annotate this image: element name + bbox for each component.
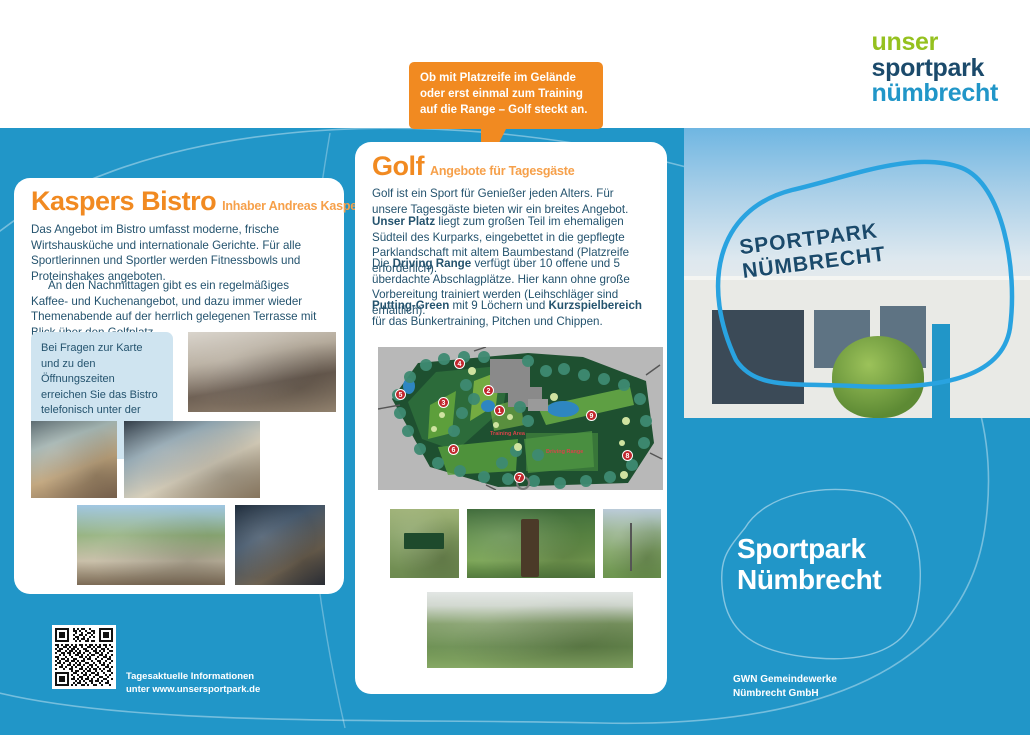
map-marker-1[interactable]: 1 — [494, 405, 505, 416]
golf-platz-label: Unser Platz — [372, 215, 435, 228]
map-marker-9[interactable]: 9 — [586, 410, 597, 421]
golf-kurzspiel-label: Kurzspielbereich — [549, 299, 642, 312]
qr-caption-line-2: unter www.unsersportpark.de — [126, 684, 260, 697]
sportpark-footer: GWN Gemeindewerke Nümbrecht GmbH — [733, 673, 837, 701]
bistro-interior-tables-photo — [188, 332, 336, 412]
golf-green-with-flag-photo — [603, 509, 661, 578]
golf-old-tree-photo — [467, 509, 595, 578]
golf-course-panorama-photo — [427, 592, 633, 668]
bistro-bar-area-photo — [124, 421, 260, 498]
callout-speech-bubble: Ob mit Platzreife im Gelände oder erst e… — [409, 62, 603, 129]
golf-range-prefix: Die — [372, 257, 393, 270]
golf-putting-paragraph: Putting-Green mit 9 Löchern und Kurzspie… — [372, 298, 650, 329]
logo-line-unser: unser — [872, 30, 998, 56]
map-marker-2[interactable]: 2 — [483, 385, 494, 396]
brand-logo: unser sportpark nümbrecht — [872, 30, 998, 107]
golf-intro-text: Golf ist ein Sport für Genießer jeden Al… — [372, 186, 650, 217]
footer-company-line-1: GWN Gemeindewerke — [733, 673, 837, 687]
bistro-bar-stools-photo — [235, 505, 325, 585]
qr-caption: Tagesaktuelle Informationen unter www.un… — [126, 671, 260, 697]
map-label-driving-range: Driving Range — [546, 449, 583, 455]
logo-line-nuembrecht: nümbrecht — [872, 81, 998, 107]
golf-putting-mid: mit 9 Löchern und — [449, 299, 548, 312]
logo-line-sportpark: sportpark — [872, 56, 998, 82]
golf-putting-label: Putting-Green — [372, 299, 449, 312]
sportpark-title-line-2: Nümbrecht — [737, 565, 881, 596]
sportpark-title: Sportpark Nümbrecht — [737, 534, 881, 596]
golf-course-map: 1 2 3 4 5 6 7 8 9 Training Area Driving … — [378, 347, 663, 490]
map-marker-5[interactable]: 5 — [395, 389, 406, 400]
golf-title: Golf — [372, 151, 424, 181]
bistro-title: Kaspers Bistro — [31, 186, 216, 216]
sportpark-title-line-1: Sportpark — [737, 534, 881, 565]
map-marker-4[interactable]: 4 — [454, 358, 465, 369]
bistro-heading: Kaspers BistroInhaber Andreas Kasper — [31, 186, 362, 217]
footer-company-line-2: Nümbrecht GmbH — [733, 687, 837, 701]
brochure-page: unser sportpark nümbrecht Ob mit Platzre… — [0, 0, 1030, 735]
map-marker-7[interactable]: 7 — [514, 472, 525, 483]
building-blue-outline-shape — [684, 128, 1030, 418]
golf-heading: GolfAngebote für Tagesgäste — [372, 151, 575, 182]
qr-caption-line-1: Tagesaktuelle Informationen — [126, 671, 260, 684]
golf-tee-sign-photo — [390, 509, 459, 578]
qr-code-icon[interactable] — [52, 625, 116, 689]
callout-line-2: oder erst einmal zum Training — [420, 87, 592, 103]
golf-putting-end: für das Bunkertraining, Pitchen und Chip… — [372, 315, 603, 328]
map-marker-3[interactable]: 3 — [438, 397, 449, 408]
callout-line-3: auf die Range – Golf steckt an. — [420, 103, 592, 119]
callout-line-1: Ob mit Platzreife im Gelände — [420, 71, 592, 87]
golf-map-graphic — [378, 347, 663, 490]
map-marker-6[interactable]: 6 — [448, 444, 459, 455]
bistro-paragraph-1: Das Angebot im Bistro umfasst moderne, f… — [31, 222, 329, 284]
bistro-window-seating-photo — [31, 421, 117, 498]
bistro-terrace-umbrellas-photo — [77, 505, 225, 585]
bistro-subtitle: Inhaber Andreas Kasper — [222, 199, 362, 213]
bistro-paragraph-2: An den Nachmittagen gibt es ein regelmäß… — [31, 278, 329, 340]
golf-range-label: Driving Range — [393, 257, 472, 270]
map-label-training-area: Training Area — [490, 431, 525, 437]
golf-subtitle: Angebote für Tagesgäste — [430, 164, 575, 178]
map-marker-8[interactable]: 8 — [622, 450, 633, 461]
sportpark-entrance-photo: SPORTPARK NÜMBRECHT unser sportpark nümb… — [684, 128, 1030, 418]
